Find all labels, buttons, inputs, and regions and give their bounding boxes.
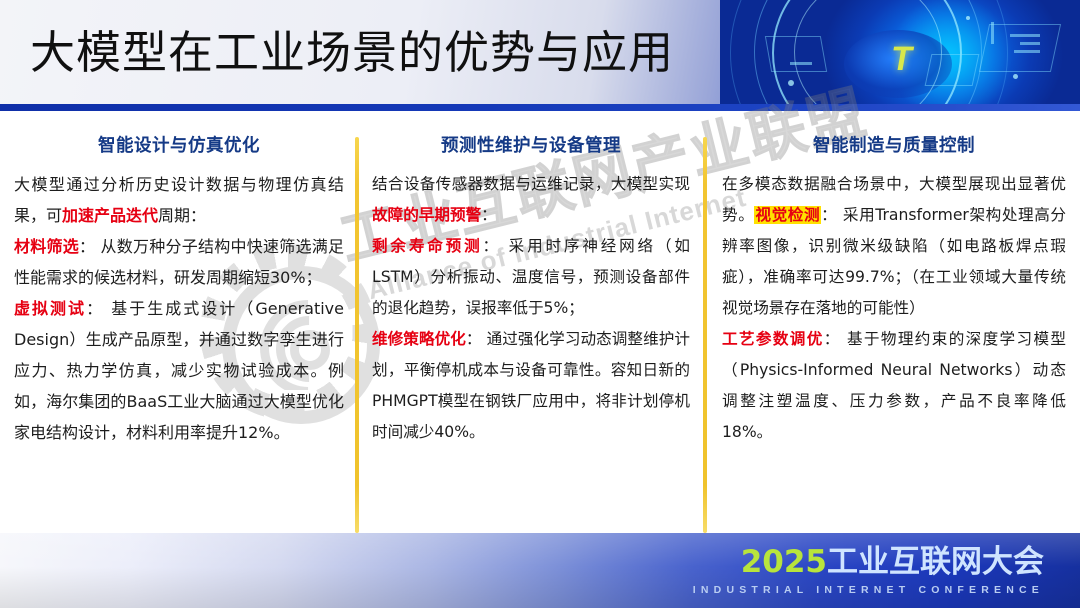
header-hud-bar-icon: [1020, 42, 1040, 45]
highlight-run: 工艺参数调优: [722, 330, 824, 348]
text-run: ： 基于生成式设计（Generative Design）生成产品原型，并通过数字…: [14, 299, 344, 442]
highlight-run: 材料筛选: [14, 237, 79, 256]
header-hud-dot-icon: [788, 80, 794, 86]
column-heading: 智能制造与质量控制: [722, 132, 1066, 157]
column-heading: 预测性维护与设备管理: [372, 132, 690, 157]
header-hud-dot-icon: [966, 16, 970, 20]
highlight-run: 剩余寿命预测: [372, 237, 482, 255]
column-divider-1: [355, 137, 359, 533]
header-hud-bar-icon: [1010, 34, 1040, 37]
header-hud-panel-icon: [925, 54, 980, 86]
column-predictive-maintenance: 预测性维护与设备管理 结合设备传感器数据与运维记录，大模型实现故障的早期预警： …: [372, 111, 690, 533]
conference-logo: 2025工业互联网大会 INDUSTRIAL INTERNET CONFEREN…: [693, 547, 1044, 596]
header-tech-graphic: T: [720, 0, 1080, 110]
text-run: 结合设备传感器数据与运维记录，大模型实现: [372, 175, 690, 193]
column-heading: 智能设计与仿真优化: [14, 132, 344, 157]
highlight-run: 加速产品迭代: [62, 206, 158, 225]
text-run: 周期：: [158, 206, 206, 225]
header-blue-rule: [0, 104, 1080, 111]
header-hud-panel-icon: [765, 36, 827, 72]
conference-logo-cn: 工业互联网大会: [827, 544, 1044, 580]
header-hud-dot-icon: [1013, 74, 1018, 79]
content-columns: 智能设计与仿真优化 大模型通过分析历史设计数据与物理仿真结果，可加速产品迭代周期…: [0, 111, 1080, 533]
slide-root: T 大模型在工业场景的优势与应用 工业互联网产业联盟 Alliance of I…: [0, 0, 1080, 608]
column-smart-manufacturing: 智能制造与质量控制 在多模态数据融合场景中，大模型展现出显著优势。视觉检测： 采…: [722, 111, 1066, 533]
header-hud-bar-icon: [991, 22, 994, 44]
header-hud-bar-icon: [790, 62, 812, 65]
column-intelligent-design: 智能设计与仿真优化 大模型通过分析历史设计数据与物理仿真结果，可加速产品迭代周期…: [14, 111, 344, 533]
conference-logo-subtitle: INDUSTRIAL INTERNET CONFERENCE: [693, 585, 1044, 596]
conference-logo-main: 2025工业互联网大会: [693, 547, 1044, 578]
page-title: 大模型在工业场景的优势与应用: [30, 18, 674, 88]
highlight-boxed-run: 视觉检测: [754, 206, 821, 224]
column-body-text: 结合设备传感器数据与运维记录，大模型实现故障的早期预警： 剩余寿命预测： 采用时…: [372, 169, 690, 448]
highlight-run: 虚拟测试: [14, 299, 86, 318]
slide-footer: 2025工业互联网大会 INDUSTRIAL INTERNET CONFEREN…: [0, 533, 1080, 608]
column-divider-2: [703, 137, 707, 533]
column-body-text: 在多模态数据融合场景中，大模型展现出显著优势。视觉检测： 采用Transform…: [722, 169, 1066, 448]
conference-logo-year: 2025: [741, 544, 827, 580]
slide-header: T 大模型在工业场景的优势与应用: [0, 0, 1080, 110]
highlight-run: 维修策略优化: [372, 330, 466, 348]
text-run: ：: [481, 206, 497, 224]
highlight-run: 故障的早期预警: [372, 206, 481, 224]
header-hud-bar-icon: [1014, 50, 1040, 53]
column-body-text: 大模型通过分析历史设计数据与物理仿真结果，可加速产品迭代周期： 材料筛选： 从数…: [14, 169, 344, 448]
t-logo-emblem-icon: T: [873, 42, 931, 76]
